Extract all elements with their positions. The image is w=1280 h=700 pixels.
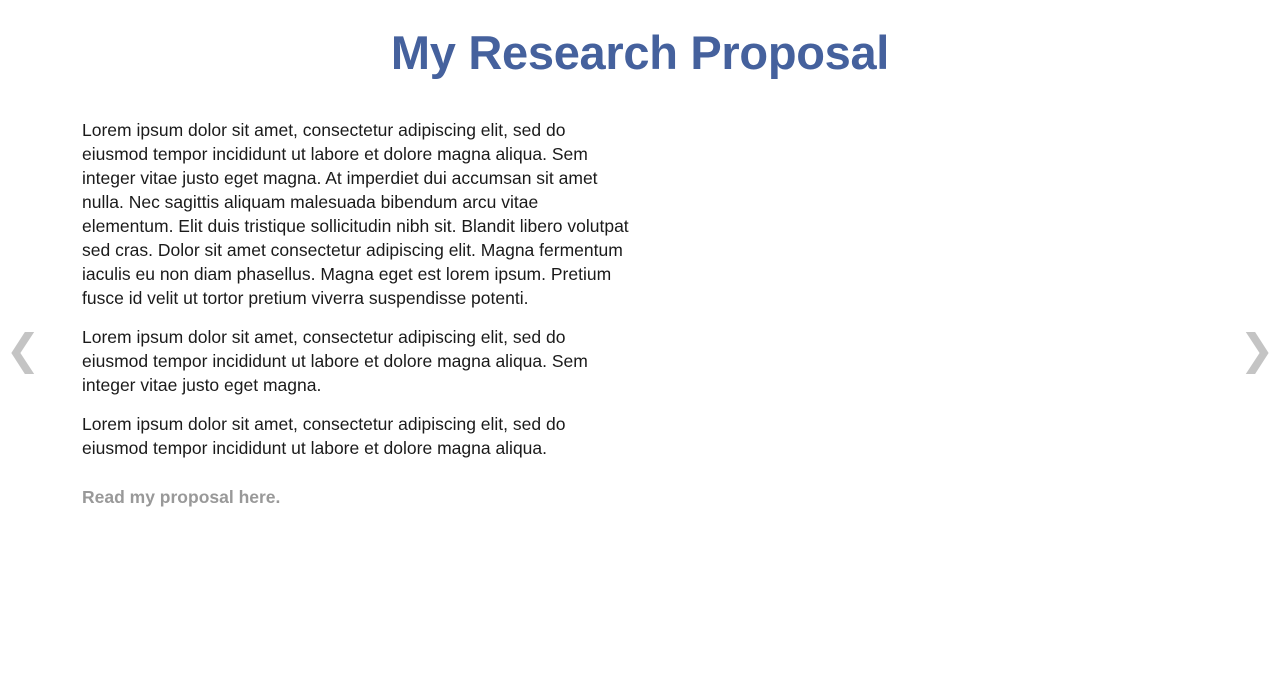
body-paragraph: Lorem ipsum dolor sit amet, consectetur … (82, 118, 634, 310)
body-paragraph: Lorem ipsum dolor sit amet, consectetur … (82, 325, 634, 397)
slide-container: My Research Proposal Lorem ipsum dolor s… (0, 0, 1280, 700)
page-title: My Research Proposal (0, 0, 1280, 82)
read-proposal-link[interactable]: Read my proposal here. (82, 485, 280, 509)
body-paragraph: Lorem ipsum dolor sit amet, consectetur … (82, 412, 634, 460)
chevron-left-icon[interactable]: ❮ (2, 329, 44, 371)
chevron-right-icon[interactable]: ❯ (1236, 329, 1278, 371)
slide-text-column: Lorem ipsum dolor sit amet, consectetur … (82, 118, 634, 509)
